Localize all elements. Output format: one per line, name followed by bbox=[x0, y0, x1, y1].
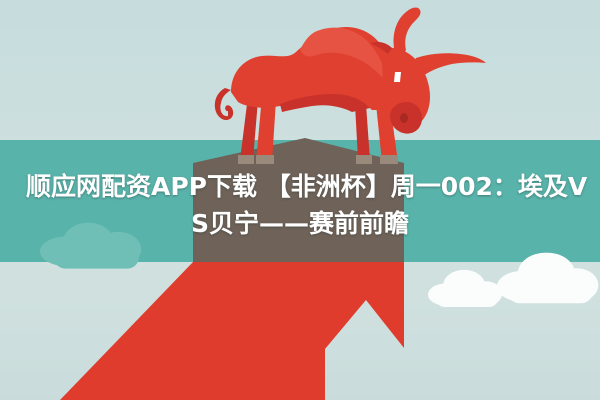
title-line-2: S贝宁——赛前前瞻 bbox=[14, 205, 586, 242]
cover-image: 顺应网配资APP下载 【非洲杯】周一002：埃及V S贝宁——赛前前瞻 bbox=[0, 0, 600, 400]
bull-nostril bbox=[400, 113, 408, 123]
arrow-red-shape bbox=[60, 262, 404, 400]
bull-eye-icon bbox=[394, 72, 401, 82]
title-overlay: 顺应网配资APP下载 【非洲杯】周一002：埃及V S贝宁——赛前前瞻 bbox=[0, 168, 600, 242]
title-line-1: 顺应网配资APP下载 【非洲杯】周一002：埃及V bbox=[14, 168, 586, 205]
bull-icon bbox=[215, 8, 486, 162]
